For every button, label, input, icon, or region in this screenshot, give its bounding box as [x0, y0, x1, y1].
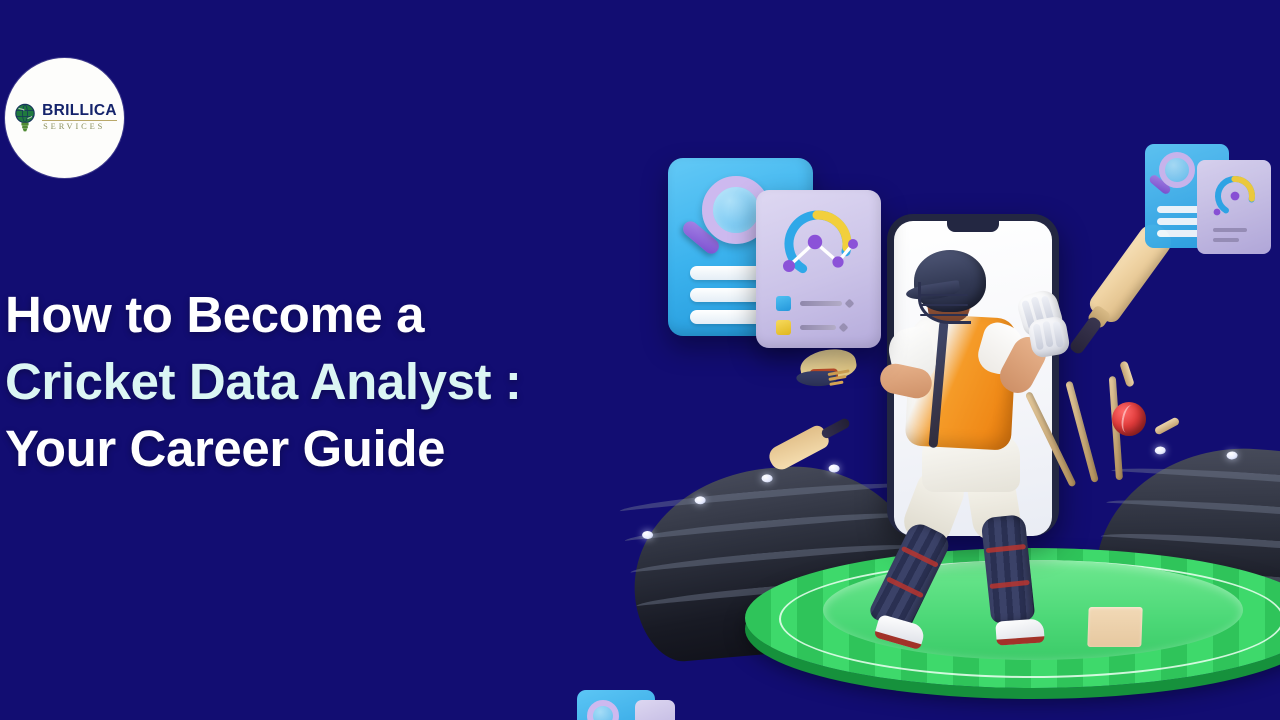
magnifying-glass-icon-small [1159, 152, 1195, 188]
ball-seam [1119, 404, 1139, 434]
donut-chart [778, 204, 858, 284]
analytics-dashboard-card [668, 158, 873, 348]
globe-lightbulb-icon [12, 102, 38, 132]
floodlight-icon [828, 464, 840, 473]
headline-block: How to Become a Cricket Data Analyst : Y… [5, 281, 645, 482]
logo-company-name: BRILLICA [42, 103, 117, 121]
logo-tagline: SERVICES [42, 123, 117, 131]
floating-bat-handle [820, 417, 851, 440]
headline-line-3: Your Career Guide [5, 415, 645, 482]
headline-line-2: Cricket Data Analyst : [5, 348, 645, 415]
cricket-cap-icon [792, 345, 864, 396]
blog-banner: BRILLICA SERVICES How to Become a Cricke… [0, 0, 1280, 720]
legend-swatch-primary [776, 296, 791, 311]
cricket-ball [1112, 402, 1146, 436]
hero-illustration: 3D cricket batsman emerging from a smart… [600, 0, 1280, 720]
batsman-shoe-left [874, 614, 927, 650]
floodlight-icon [761, 474, 773, 483]
cricket-wicket [1066, 374, 1186, 492]
analytics-dashboard-card-bottom [577, 690, 673, 720]
illustration-alt-text: 3D cricket batsman emerging from a smart… [600, 0, 601, 1]
bail [1154, 416, 1181, 435]
batsman-shoe-right [995, 618, 1045, 645]
bail [1119, 360, 1135, 387]
chart-card-lavender-bottom [635, 700, 675, 720]
logo-wordmark: BRILLICA SERVICES [42, 103, 117, 132]
legend-swatch-secondary [776, 320, 791, 335]
batsman-pad-right [981, 514, 1036, 624]
logo-inner: BRILLICA SERVICES [12, 102, 117, 132]
headline-line-1: How to Become a [5, 281, 645, 348]
floodlight-icon [1226, 451, 1238, 460]
cricket-bat-floating [766, 411, 855, 474]
chart-card-lavender-small [1197, 160, 1271, 254]
phone-notch [947, 221, 999, 232]
brand-logo-badge[interactable]: BRILLICA SERVICES [5, 58, 124, 178]
analytics-dashboard-card-small [1145, 138, 1270, 250]
stump [1065, 381, 1099, 483]
chart-card-lavender [756, 190, 881, 348]
